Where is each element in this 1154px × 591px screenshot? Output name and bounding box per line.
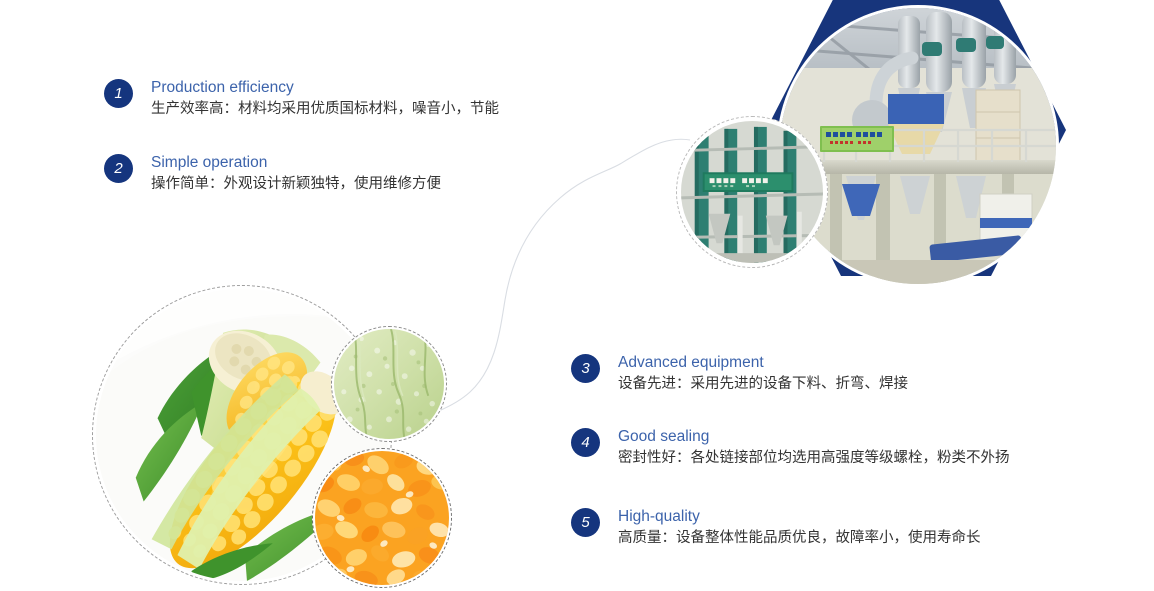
feature-item-4[interactable]: 4 Good sealing 密封性好：各处链接部位均选用高强度等级螺栓，粉类不… bbox=[571, 427, 1010, 469]
feature-title: High-quality bbox=[618, 507, 981, 526]
feature-text: Advanced equipment 设备先进：采用先进的设备下料、折弯、焊接 bbox=[618, 353, 908, 395]
feature-text: Good sealing 密封性好：各处链接部位均选用高强度等级螺栓，粉类不外扬 bbox=[618, 427, 1010, 469]
feature-title: Simple operation bbox=[151, 153, 441, 172]
corn-meal-photo bbox=[331, 326, 447, 442]
feature-number-badge: 1 bbox=[104, 79, 133, 108]
feature-description: 生产效率高：材料均采用优质国标材料，噪音小，节能 bbox=[151, 98, 499, 120]
feature-number-badge: 2 bbox=[104, 154, 133, 183]
feature-item-1[interactable]: 1 Production efficiency 生产效率高：材料均采用优质国标材… bbox=[104, 78, 499, 120]
feature-number-badge: 5 bbox=[571, 508, 600, 537]
page-root: 1 Production efficiency 生产效率高：材料均采用优质国标材… bbox=[0, 0, 1154, 591]
feature-title: Good sealing bbox=[618, 427, 1010, 446]
feature-text: Production efficiency 生产效率高：材料均采用优质国标材料，… bbox=[151, 78, 499, 120]
feature-item-5[interactable]: 5 High-quality 高质量：设备整体性能品质优良，故障率小，使用寿命长 bbox=[571, 507, 981, 549]
feature-description: 密封性好：各处链接部位均选用高强度等级螺栓，粉类不外扬 bbox=[618, 447, 1010, 469]
feature-number-badge: 4 bbox=[571, 428, 600, 457]
feature-title: Production efficiency bbox=[151, 78, 499, 97]
feature-item-2[interactable]: 2 Simple operation 操作简单：外观设计新颖独特，使用维修方便 bbox=[104, 153, 441, 195]
feature-text: High-quality 高质量：设备整体性能品质优良，故障率小，使用寿命长 bbox=[618, 507, 981, 549]
corn-grits-photo bbox=[312, 448, 452, 588]
feature-description: 高质量：设备整体性能品质优良，故障率小，使用寿命长 bbox=[618, 527, 981, 549]
feature-number-badge: 3 bbox=[571, 354, 600, 383]
feature-description: 设备先进：采用先进的设备下料、折弯、焊接 bbox=[618, 373, 908, 395]
feature-description: 操作简单：外观设计新颖独特，使用维修方便 bbox=[151, 173, 441, 195]
sub-plant-photo bbox=[676, 116, 828, 268]
feature-item-3[interactable]: 3 Advanced equipment 设备先进：采用先进的设备下料、折弯、焊… bbox=[571, 353, 908, 395]
feature-text: Simple operation 操作简单：外观设计新颖独特，使用维修方便 bbox=[151, 153, 441, 195]
feature-title: Advanced equipment bbox=[618, 353, 908, 372]
